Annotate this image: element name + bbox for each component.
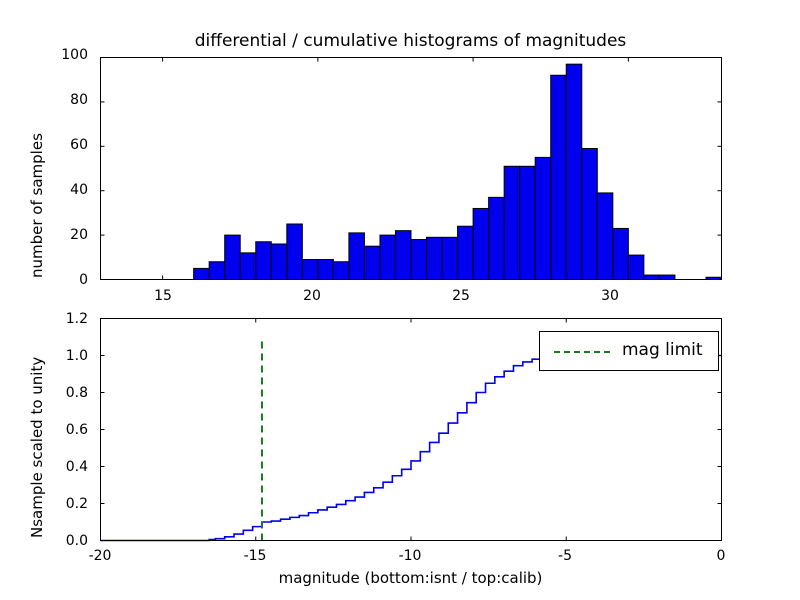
bottom-ytick-1.2: 1.2 xyxy=(40,311,88,327)
bottom-xtick-minus5: -5 xyxy=(543,548,587,564)
top-xtick-30: 30 xyxy=(590,288,630,304)
top-ytick-80: 80 xyxy=(46,92,88,108)
bottom-ytick-0.8: 0.8 xyxy=(40,385,88,401)
bottom-panel-plot xyxy=(0,0,800,600)
top-ytick-60: 60 xyxy=(46,137,88,153)
top-ytick-100: 100 xyxy=(46,47,88,63)
chart-title: differential / cumulative histograms of … xyxy=(100,31,721,51)
bottom-ytick-1.0: 1.0 xyxy=(40,348,88,364)
bottom-xtick-minus10: -10 xyxy=(388,548,432,564)
top-panel-ylabel: number of samples xyxy=(28,133,46,278)
bottom-ytick-0.0: 0.0 xyxy=(40,533,88,549)
bottom-xtick-minus20: -20 xyxy=(78,548,122,564)
bottom-ytick-0.6: 0.6 xyxy=(40,422,88,438)
figure-canvas: differential / cumulative histograms of … xyxy=(0,0,800,600)
top-xtick-15: 15 xyxy=(143,288,183,304)
legend-dash-icon xyxy=(554,351,610,353)
bottom-xtick-0: 0 xyxy=(699,548,743,564)
top-ytick-40: 40 xyxy=(46,182,88,198)
top-panel-plot xyxy=(0,0,800,600)
bottom-ytick-0.2: 0.2 xyxy=(40,496,88,512)
legend-label-mag-limit: mag limit xyxy=(622,340,703,360)
top-xtick-20: 20 xyxy=(292,288,332,304)
bottom-ytick-0.4: 0.4 xyxy=(40,459,88,475)
bottom-panel-xlabel: magnitude (bottom:isnt / top:calib) xyxy=(100,569,721,587)
top-ytick-20: 20 xyxy=(46,227,88,243)
top-xtick-25: 25 xyxy=(441,288,481,304)
bottom-xtick-minus15: -15 xyxy=(233,548,277,564)
top-ytick-0: 0 xyxy=(46,272,88,288)
legend[interactable]: mag limit xyxy=(539,331,719,371)
